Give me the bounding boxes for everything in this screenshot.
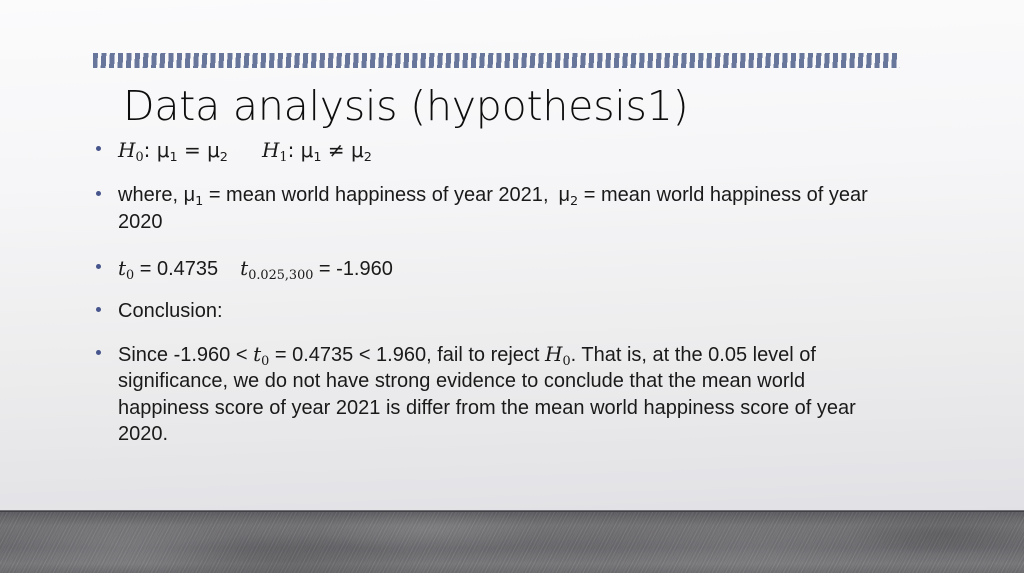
test-statistic-text: t0 = 0.4735t0.025,300 = -1.960 — [118, 255, 896, 282]
stone-texture-band — [0, 512, 1024, 573]
list-item: t0 = 0.4735t0.025,300 = -1.960 — [96, 255, 896, 282]
striped-rule-decoration — [93, 53, 900, 68]
definitions-mid: = mean world happiness of year 2021 — [203, 184, 543, 206]
null-hypothesis-expression: : μ1 = μ2 — [144, 138, 228, 162]
t0-symbol-inline: t0 — [253, 342, 269, 366]
mu2-symbol: μ — [559, 184, 571, 206]
page-title: Data analysis (hypothesis1) — [123, 84, 688, 129]
bullet-marker-icon — [96, 298, 118, 312]
conclusion-part2: = 0.4735 < 1.960, fail to reject — [269, 344, 545, 366]
list-item: Since -1.960 < t0 = 0.4735 < 1.960, fail… — [96, 341, 896, 448]
bullet-marker-icon — [96, 182, 118, 196]
slide-canvas: Data analysis (hypothesis1) H0: μ1 = μ2H… — [0, 0, 1024, 573]
list-item: where, μ1 = mean world happiness of year… — [96, 182, 896, 235]
t-critical-value: = -1.960 — [313, 258, 393, 280]
t0-value: = 0.4735 — [134, 258, 218, 280]
bullet-list: H0: μ1 = μ2H1: μ1 ≠ μ2 where, μ1 = mean … — [96, 137, 896, 448]
alt-hypothesis-expression: : μ1 ≠ μ2 — [288, 138, 372, 162]
bullet-marker-icon — [96, 341, 118, 355]
conclusion-body-text: Since -1.960 < t0 = 0.4735 < 1.960, fail… — [118, 341, 896, 448]
hypotheses-text: H0: μ1 = μ2H1: μ1 ≠ μ2 — [118, 137, 896, 164]
mu2-subscript: 2 — [570, 194, 578, 209]
definitions-text: where, μ1 = mean world happiness of year… — [118, 182, 896, 235]
conclusion-label: Conclusion: — [118, 298, 896, 324]
null-hypothesis-symbol: H0 — [118, 138, 144, 162]
t0-symbol: t0 — [118, 256, 134, 280]
list-item: H0: μ1 = μ2H1: μ1 ≠ μ2 — [96, 137, 896, 164]
null-hypothesis-symbol-inline: H0 — [545, 342, 571, 366]
bullet-marker-icon — [96, 255, 118, 269]
definitions-lead: where, μ — [118, 184, 195, 206]
bullet-marker-icon — [96, 137, 118, 151]
t-critical-symbol: t0.025,300 — [240, 256, 313, 280]
list-item: Conclusion: — [96, 298, 896, 324]
alt-hypothesis-symbol: H1 — [262, 138, 288, 162]
definitions-comma: , — [543, 184, 549, 206]
conclusion-part1: Since -1.960 < — [118, 344, 253, 366]
